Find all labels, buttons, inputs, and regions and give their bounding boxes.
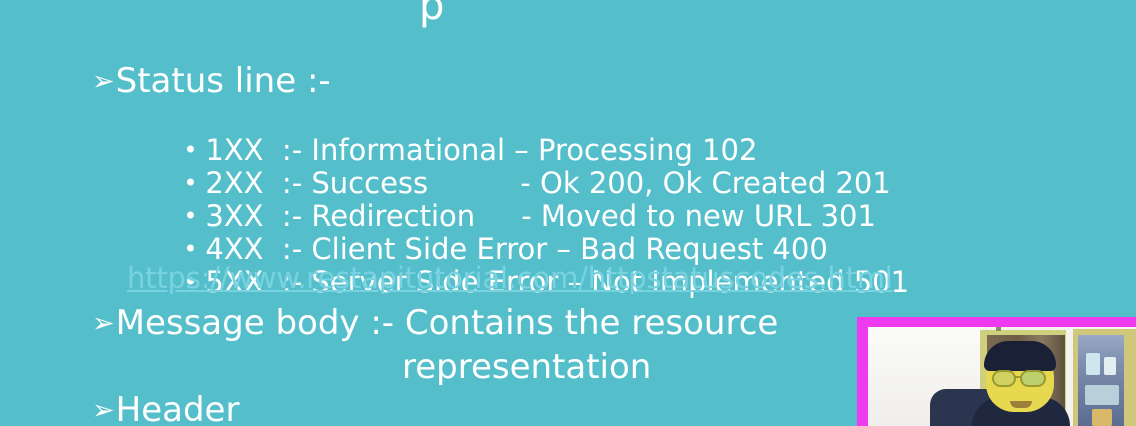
webcam-person-hair xyxy=(984,341,1056,371)
bullet-message-body: ➢Message body :- Contains the resource xyxy=(92,304,778,342)
webcam-cabinet-item xyxy=(1085,385,1119,405)
arrow-bullet-icon: ➢ xyxy=(92,396,115,426)
presenter-webcam-overlay[interactable] xyxy=(857,317,1136,426)
webcam-cabinet-item xyxy=(1104,357,1116,375)
presentation-slide: p ➢Status line :- •1XX :- Informational … xyxy=(0,0,1136,426)
bullet-status-line: ➢Status line :- xyxy=(92,62,331,100)
bullet-header-label: Header xyxy=(116,390,240,426)
webcam-eyeglasses-left-lens xyxy=(992,370,1016,387)
arrow-bullet-icon: ➢ xyxy=(92,309,115,339)
bullet-header: ➢Header xyxy=(92,391,239,426)
reference-link[interactable]: https://www.restapitutorial.com/httpstat… xyxy=(127,263,893,295)
bullet-status-line-label: Status line :- xyxy=(116,61,331,101)
webcam-person-mouth xyxy=(1010,401,1032,408)
webcam-cabinet-item xyxy=(1086,353,1100,375)
webcam-eyeglasses-right-lens xyxy=(1020,370,1046,387)
webcam-eyeglasses-bridge xyxy=(1015,376,1021,378)
webcam-ceiling-fixture xyxy=(996,327,1001,331)
message-body-continuation: representation xyxy=(402,348,651,386)
webcam-cabinet-item xyxy=(1092,409,1112,426)
webcam-video-feed xyxy=(868,327,1136,426)
bullet-message-body-label: Message body :- Contains the resource xyxy=(116,303,779,343)
arrow-bullet-icon: ➢ xyxy=(92,67,115,97)
